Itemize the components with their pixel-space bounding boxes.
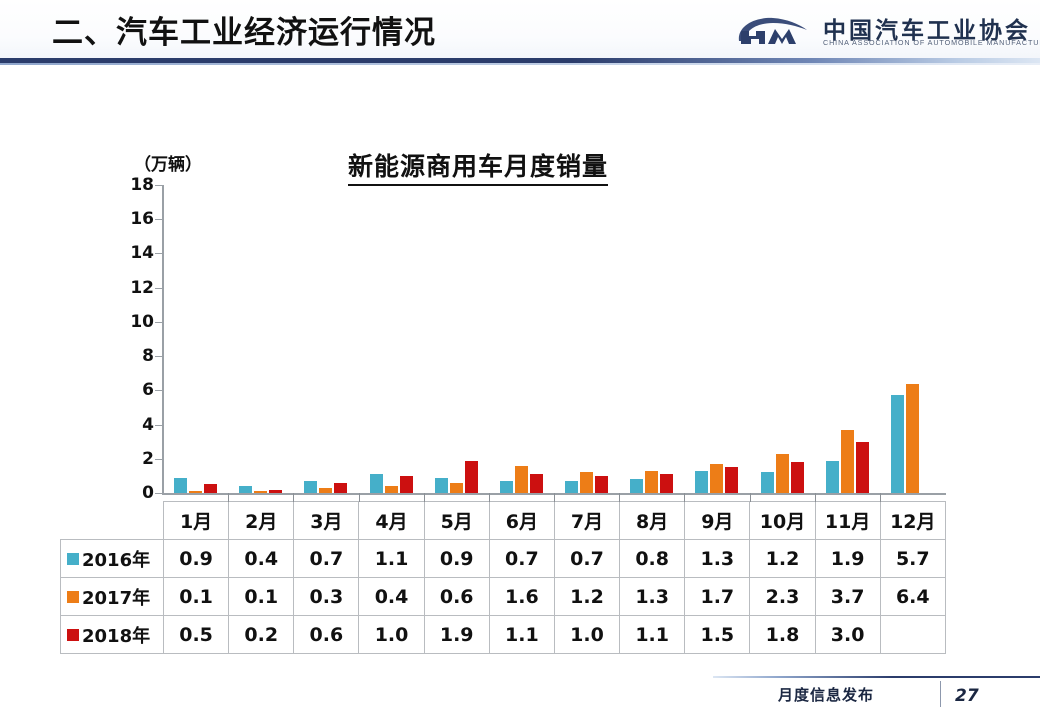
chart-bar <box>856 442 869 493</box>
chart-bar <box>791 462 804 493</box>
x-axis-category-separator <box>424 493 425 502</box>
chart-category-group <box>750 185 815 493</box>
table-cell: 0.6 <box>294 616 359 654</box>
chart-bar <box>204 484 217 493</box>
table-cell: 1.8 <box>750 616 815 654</box>
table-cell: 1.2 <box>554 578 619 616</box>
y-axis-tick <box>155 493 163 494</box>
chart-bar <box>174 478 187 493</box>
table-cell: 0.1 <box>164 578 229 616</box>
table-cell: 0.9 <box>164 540 229 578</box>
chart-category-group <box>359 185 424 493</box>
legend-label: 2016年 <box>82 550 150 571</box>
table-column-header: 9月 <box>685 502 750 540</box>
y-axis-tick <box>155 459 163 460</box>
table-cell: 1.1 <box>359 540 424 578</box>
table-cell: 0.9 <box>424 540 489 578</box>
y-axis-tick-label: 16 <box>112 209 154 229</box>
table-row-legend: 2016年 <box>61 540 164 578</box>
chart-bar <box>645 471 658 493</box>
y-axis-tick-label: 8 <box>112 346 154 366</box>
y-axis-tick-label: 18 <box>112 175 154 195</box>
y-axis-tick <box>155 356 163 357</box>
table-cell: 1.5 <box>685 616 750 654</box>
y-axis-tick <box>155 185 163 186</box>
table-cell: 1.2 <box>750 540 815 578</box>
legend-swatch-icon <box>67 553 79 565</box>
chart-bar <box>239 486 252 493</box>
chart-bar <box>370 474 383 493</box>
legend-swatch-icon <box>67 629 79 641</box>
chart-category-group <box>293 185 358 493</box>
y-axis-tick <box>155 288 163 289</box>
y-axis-tick-label: 6 <box>112 380 154 400</box>
table-cell: 0.2 <box>229 616 294 654</box>
caam-logo: 中国汽车工业协会 CHINA ASSOCIATION OF AUTOMOBILE… <box>735 9 1007 53</box>
table-cell: 0.3 <box>294 578 359 616</box>
y-axis-tick <box>155 425 163 426</box>
chart-category-group <box>684 185 749 493</box>
chart-plot-area <box>163 185 945 493</box>
chart-bar <box>319 488 332 493</box>
table-cell: 6.4 <box>880 578 945 616</box>
slide-header: 二、汽车工业经济运行情况 中国汽车工业协会 CHINA ASSOCIATION … <box>0 0 1040 62</box>
chart-bar <box>776 454 789 493</box>
x-axis-category-separator <box>619 493 620 502</box>
chart-category-group <box>163 185 228 493</box>
chart-bar <box>334 483 347 493</box>
chart-bar <box>269 490 282 493</box>
table-cell: 0.7 <box>294 540 359 578</box>
y-axis-tick-label: 0 <box>112 483 154 503</box>
y-axis-labels: 024681012141618 <box>104 185 154 494</box>
x-axis-category-separator <box>815 493 816 502</box>
table-cell: 1.1 <box>489 616 554 654</box>
table-row: 2017年0.10.10.30.40.61.61.21.31.72.33.76.… <box>61 578 946 616</box>
x-axis-category-separator <box>293 493 294 502</box>
table-cell: 0.7 <box>489 540 554 578</box>
chart-category-group <box>880 185 945 493</box>
table-cell: 0.4 <box>229 540 294 578</box>
chart-bar <box>891 395 904 493</box>
y-axis-tick <box>155 322 163 323</box>
chart-category-group <box>619 185 684 493</box>
table-column-header: 4月 <box>359 502 424 540</box>
y-axis-tick <box>155 253 163 254</box>
chart-bar <box>530 474 543 493</box>
y-axis-tick-label: 2 <box>112 449 154 469</box>
legend-label: 2017年 <box>82 588 150 609</box>
chart-bar <box>841 430 854 493</box>
chart-bar <box>254 491 267 493</box>
chart-bar <box>595 476 608 493</box>
chart-bar <box>710 464 723 493</box>
logo-name-en: CHINA ASSOCIATION OF AUTOMOBILE MANUFACT… <box>823 38 1040 47</box>
chart-bar <box>500 481 513 493</box>
table-column-header: 12月 <box>880 502 945 540</box>
header-divider-light <box>0 63 1040 65</box>
table-cell: 2.3 <box>750 578 815 616</box>
x-axis-category-separator <box>684 493 685 502</box>
y-axis-tick <box>155 219 163 220</box>
y-axis-unit-label: （万辆） <box>134 150 202 175</box>
table-cell: 1.0 <box>554 616 619 654</box>
legend-label: 2018年 <box>82 626 150 647</box>
chart-bar <box>826 461 839 494</box>
footer-label: 月度信息发布 <box>778 684 874 705</box>
chart-bar <box>580 472 593 493</box>
x-axis-category-separator <box>554 493 555 502</box>
table-cell: 1.9 <box>815 540 880 578</box>
chart-bar <box>465 461 478 494</box>
table-column-header: 7月 <box>554 502 619 540</box>
chart-bar <box>695 471 708 493</box>
footer-divider <box>713 676 1040 678</box>
table-cell: 3.0 <box>815 616 880 654</box>
chart-bar <box>906 384 919 494</box>
table-column-header: 3月 <box>294 502 359 540</box>
table-header-row: 1月2月3月4月5月6月7月8月9月10月11月12月 <box>61 502 946 540</box>
table-row: 2016年0.90.40.71.10.90.70.70.81.31.21.95.… <box>61 540 946 578</box>
table-column-header: 8月 <box>620 502 685 540</box>
caam-logo-mark-icon <box>735 13 815 49</box>
x-axis-category-separator <box>489 493 490 502</box>
table-cell: 1.6 <box>489 578 554 616</box>
data-table: 1月2月3月4月5月6月7月8月9月10月11月12月 2016年0.90.40… <box>60 501 946 654</box>
footer-separator <box>940 681 941 707</box>
x-axis-category-separator <box>880 493 881 502</box>
x-axis-category-separator <box>359 493 360 502</box>
table-cell: 1.3 <box>685 540 750 578</box>
table-cell: 0.5 <box>164 616 229 654</box>
table-cell: 5.7 <box>880 540 945 578</box>
legend-swatch-icon <box>67 591 79 603</box>
chart-category-group <box>815 185 880 493</box>
chart-bar <box>304 481 317 493</box>
table-column-header: 5月 <box>424 502 489 540</box>
chart-bar <box>450 483 463 493</box>
table-cell: 0.1 <box>229 578 294 616</box>
y-axis-tick-label: 4 <box>112 415 154 435</box>
table-column-header: 11月 <box>815 502 880 540</box>
table-row-legend: 2018年 <box>61 616 164 654</box>
page-number: 27 <box>955 686 979 706</box>
chart-category-group <box>554 185 619 493</box>
x-axis-category-separator <box>750 493 751 502</box>
y-axis-tick-label: 12 <box>112 278 154 298</box>
chart-category-group <box>489 185 554 493</box>
chart-bar <box>385 486 398 493</box>
chart-bar <box>630 479 643 493</box>
table-row: 2018年0.50.20.61.01.91.11.01.11.51.83.0 <box>61 616 946 654</box>
table-column-header: 10月 <box>750 502 815 540</box>
chart-bar <box>435 478 448 493</box>
chart-bar <box>761 472 774 493</box>
chart-category-group <box>228 185 293 493</box>
chart-bar <box>189 491 202 493</box>
chart-title: 新能源商用车月度销量 <box>348 147 608 186</box>
page-title: 二、汽车工业经济运行情况 <box>52 7 436 52</box>
chart-bar <box>565 481 578 493</box>
chart-bar <box>400 476 413 493</box>
table-cell: 0.4 <box>359 578 424 616</box>
chart-bar <box>725 467 738 493</box>
table-row-legend: 2017年 <box>61 578 164 616</box>
chart-category-group <box>424 185 489 493</box>
table-cell: 1.9 <box>424 616 489 654</box>
x-axis-category-separator <box>228 493 229 502</box>
table-cell: 1.3 <box>620 578 685 616</box>
table-column-header: 2月 <box>229 502 294 540</box>
table-cell: 0.6 <box>424 578 489 616</box>
table-cell: 1.7 <box>685 578 750 616</box>
y-axis-tick-label: 10 <box>112 312 154 332</box>
table-cell: 1.1 <box>620 616 685 654</box>
table-cell: 1.0 <box>359 616 424 654</box>
table-cell: 0.8 <box>620 540 685 578</box>
y-axis-tick <box>155 390 163 391</box>
table-cell: 3.7 <box>815 578 880 616</box>
y-axis-tick-label: 14 <box>112 243 154 263</box>
table-cell <box>880 616 945 654</box>
chart-bar <box>515 466 528 493</box>
chart-bar <box>660 474 673 493</box>
table-cell: 0.7 <box>554 540 619 578</box>
table-column-header: 6月 <box>489 502 554 540</box>
table-column-header: 1月 <box>164 502 229 540</box>
table-corner-cell <box>61 502 164 540</box>
